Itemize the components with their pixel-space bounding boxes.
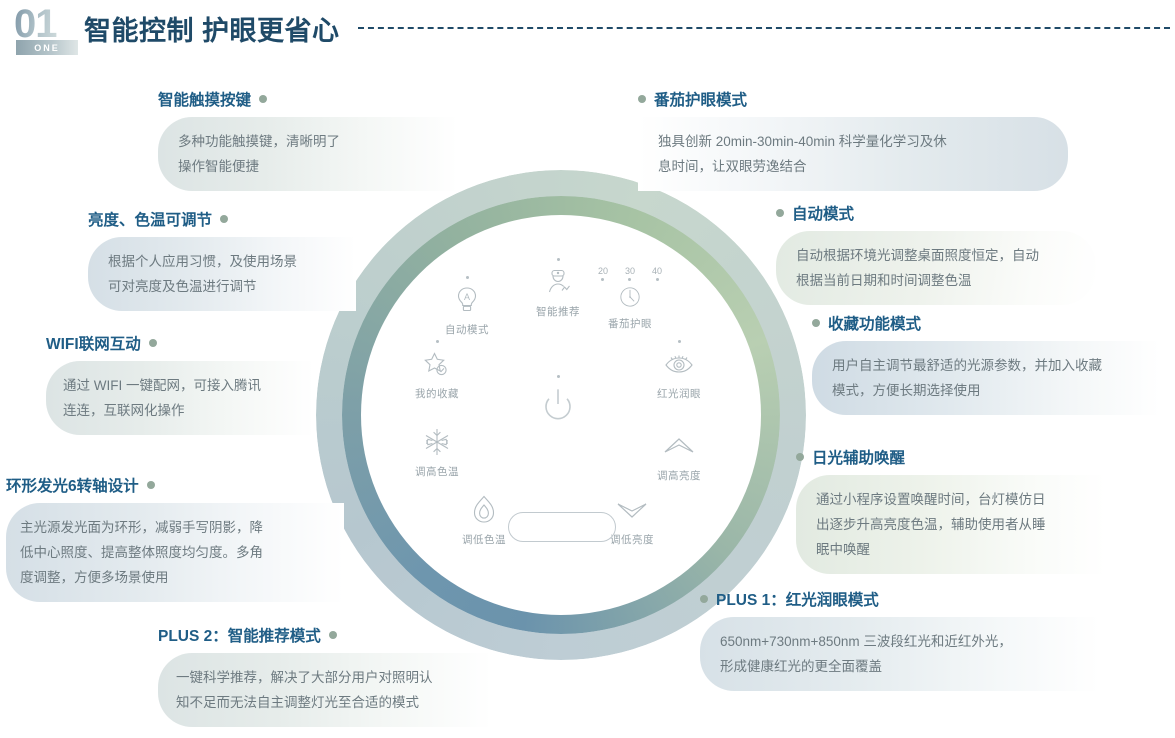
callout-title: WIFI联网互动 xyxy=(46,332,141,354)
device-button-label: 调低亮度 xyxy=(610,532,654,547)
device-button-tomato-eyecare[interactable]: 20 30 40 番茄护眼 xyxy=(584,266,676,331)
page-header: 01 ONE 智能控制 护眼更省心 xyxy=(0,0,1175,62)
callout-heading: PLUS 2：智能推荐模式 xyxy=(158,624,492,646)
callout-heading: WIFI联网互动 xyxy=(46,332,314,354)
callout-body: 通过小程序设置唤醒时间，台灯模仿日 出逐步升高亮度色温，辅助使用者从睡 眠中唤醒 xyxy=(796,475,1106,574)
page-title: 智能控制 护眼更省心 xyxy=(84,9,340,48)
callout-heading: 亮度、色温可调节 xyxy=(88,208,356,230)
bullet-dot-icon xyxy=(776,209,784,217)
device-button-label: 我的收藏 xyxy=(415,386,459,401)
device-button-my-favorites[interactable]: 我的收藏 xyxy=(391,340,483,401)
timer-mark-20: 20 xyxy=(598,266,608,281)
star-check-icon xyxy=(419,346,455,382)
bullet-dot-icon xyxy=(149,339,157,347)
callout-title: 智能触摸按键 xyxy=(158,88,251,110)
device-button-label: 番茄护眼 xyxy=(608,316,652,331)
infographic-page: 01 ONE 智能控制 护眼更省心 A 自动模式 xyxy=(0,0,1175,738)
timer-mark-dot xyxy=(628,278,631,281)
callout-title: 环形发光6转轴设计 xyxy=(6,474,139,496)
callout-title: 自动模式 xyxy=(792,202,854,224)
timer-mark-30: 30 xyxy=(625,266,635,281)
clock-icon xyxy=(615,282,645,312)
device-button-label: 红光润眼 xyxy=(657,386,701,401)
snowflake-icon xyxy=(419,424,455,460)
timer-mark-dot xyxy=(656,278,659,281)
indicator-dot xyxy=(436,340,439,343)
device-button-label: 调低色温 xyxy=(462,532,506,547)
eye-icon xyxy=(661,346,697,382)
callout-title: 亮度、色温可调节 xyxy=(88,208,212,230)
bullet-dot-icon xyxy=(329,631,337,639)
callout-heading: 自动模式 xyxy=(776,202,1096,224)
callout-body: 独具创新 20min-30min-40min 科学量化学习及休 息时间，让双眼劳… xyxy=(638,117,1068,191)
indicator-dot xyxy=(678,340,681,343)
callout-sunrise: 日光辅助唤醒 通过小程序设置唤醒时间，台灯模仿日 出逐步升高亮度色温，辅助使用者… xyxy=(796,446,1106,574)
section-number-word: ONE xyxy=(34,43,60,53)
timer-mark-dot xyxy=(601,278,604,281)
bullet-dot-icon xyxy=(700,595,708,603)
callout-title: 番茄护眼模式 xyxy=(654,88,747,110)
power-button[interactable] xyxy=(534,375,582,430)
callout-heading: 收藏功能模式 xyxy=(812,312,1160,334)
callout-touch-keys: 智能触摸按键 多种功能触摸键，清晰明了 操作智能便捷 xyxy=(158,88,458,191)
indicator-dot xyxy=(466,276,469,279)
callout-body: 一键科学推荐，解决了大部分用户对照明认 知不足而无法自主调整灯光至合适的模式 xyxy=(158,653,492,727)
power-icon xyxy=(534,382,582,430)
callout-heading: 日光辅助唤醒 xyxy=(796,446,1106,468)
device-button-raise-brightness[interactable]: 调高亮度 xyxy=(633,428,725,483)
section-number-logo: 01 ONE xyxy=(14,6,80,54)
callout-plus1: PLUS 1：红光润眼模式 650nm+730nm+850nm 三波段红光和近红… xyxy=(700,588,1100,691)
timer-mark-label: 40 xyxy=(652,266,662,276)
bulb-a-icon: A xyxy=(449,282,485,318)
section-number: 01 xyxy=(14,4,57,44)
bullet-dot-icon xyxy=(638,95,646,103)
callout-body: 通过 WIFI 一键配网，可接入腾讯 连连，互联网化操作 xyxy=(46,361,314,435)
device-button-label: 调高色温 xyxy=(415,464,459,479)
tomato-timer-marks: 20 30 40 xyxy=(598,266,662,281)
bullet-dot-icon xyxy=(220,215,228,223)
callout-heading: 智能触摸按键 xyxy=(158,88,458,110)
device-button-label: 自动模式 xyxy=(445,322,489,337)
timer-mark-40: 40 xyxy=(652,266,662,281)
touch-slider-bar[interactable] xyxy=(508,512,616,542)
callout-wifi: WIFI联网互动 通过 WIFI 一键配网，可接入腾讯 连连，互联网化操作 xyxy=(46,332,314,435)
header-dashed-rule xyxy=(358,27,1170,29)
callout-heading: PLUS 1：红光润眼模式 xyxy=(700,588,1100,610)
chevron-up-icon xyxy=(661,428,697,464)
callout-favorites: 收藏功能模式 用户自主调节最舒适的光源参数，并加入收藏 模式，方便长期选择使用 xyxy=(812,312,1160,415)
callout-heading: 番茄护眼模式 xyxy=(638,88,1068,110)
svg-text:A: A xyxy=(464,292,470,302)
callout-title: 收藏功能模式 xyxy=(828,312,921,334)
device-button-label: 调高亮度 xyxy=(657,468,701,483)
bullet-dot-icon xyxy=(147,481,155,489)
device-button-auto-mode[interactable]: A 自动模式 xyxy=(421,276,513,337)
callout-body: 多种功能触摸键，清晰明了 操作智能便捷 xyxy=(158,117,458,191)
callout-plus2: PLUS 2：智能推荐模式 一键科学推荐，解决了大部分用户对照明认 知不足而无法… xyxy=(158,624,492,727)
callout-brightness-temp: 亮度、色温可调节 根据个人应用习惯，及使用场景 可对亮度及色温进行调节 xyxy=(88,208,356,311)
bullet-dot-icon xyxy=(796,453,804,461)
callout-ring-light: 环形发光6转轴设计 主光源发光面为环形，减弱手写阴影，降 低中心照度、提高整体照… xyxy=(6,474,344,602)
chevron-down-icon xyxy=(614,492,650,528)
callout-title: PLUS 1：红光润眼模式 xyxy=(716,588,879,610)
callout-body: 用户自主调节最舒适的光源参数，并加入收藏 模式，方便长期选择使用 xyxy=(812,341,1160,415)
flame-icon xyxy=(466,492,502,528)
callout-tomato: 番茄护眼模式 独具创新 20min-30min-40min 科学量化学习及休 息… xyxy=(638,88,1068,191)
device-button-label: 智能推荐 xyxy=(536,304,580,319)
indicator-dot xyxy=(557,258,560,261)
device-button-raise-color-temp[interactable]: 调高色温 xyxy=(391,424,483,479)
callout-body: 主光源发光面为环形，减弱手写阴影，降 低中心照度、提高整体照度均匀度。多角 度调… xyxy=(6,503,344,602)
callout-auto-mode: 自动模式 自动根据环境光调整桌面照度恒定，自动 根据当前日期和时间调整色温 xyxy=(776,202,1096,305)
callout-title: 日光辅助唤醒 xyxy=(812,446,905,468)
section-number-band: ONE xyxy=(16,40,78,55)
indicator-dot xyxy=(557,375,560,378)
callout-body: 根据个人应用习惯，及使用场景 可对亮度及色温进行调节 xyxy=(88,237,356,311)
person-wave-icon xyxy=(540,264,576,300)
device-button-red-light-eye[interactable]: 红光润眼 xyxy=(633,340,725,401)
callout-title: PLUS 2：智能推荐模式 xyxy=(158,624,321,646)
timer-mark-label: 30 xyxy=(625,266,635,276)
callout-body: 自动根据环境光调整桌面照度恒定，自动 根据当前日期和时间调整色温 xyxy=(776,231,1096,305)
bullet-dot-icon xyxy=(812,319,820,327)
timer-mark-label: 20 xyxy=(598,266,608,276)
callout-heading: 环形发光6转轴设计 xyxy=(6,474,344,496)
bullet-dot-icon xyxy=(259,95,267,103)
callout-body: 650nm+730nm+850nm 三波段红光和近红外光， 形成健康红光的更全面… xyxy=(700,617,1100,691)
